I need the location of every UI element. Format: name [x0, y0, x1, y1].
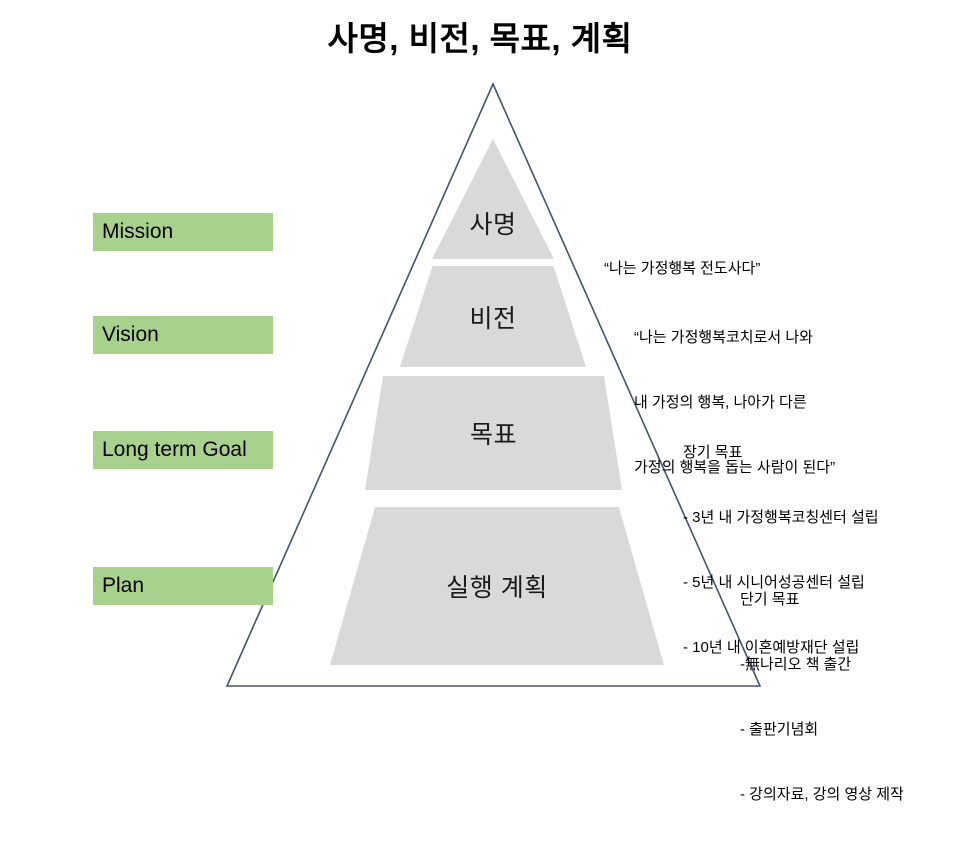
pyramid-tier-goal[interactable]: 목표 — [365, 376, 622, 490]
pyramid-tier-vision-label: 비전 — [469, 299, 516, 335]
annotation-vision-line-1: “나는 가정행복코치로서 나와 — [634, 327, 835, 349]
pyramid-tier-mission[interactable]: 사명 — [432, 139, 554, 259]
category-box-plan[interactable]: Plan — [93, 567, 273, 605]
pyramid-tier-goal-label: 목표 — [470, 415, 517, 451]
page-title: 사명, 비전, 목표, 계획 — [0, 12, 960, 60]
pyramid-tier-vision[interactable]: 비전 — [400, 266, 586, 367]
category-box-plan-label: Plan — [102, 574, 144, 598]
tier-fill-mission — [432, 139, 554, 259]
annotation-plan-item-2: - 출판기념회 — [740, 719, 904, 741]
annotation-mission-line-1: “나는 가정행복 전도사다” — [604, 258, 760, 280]
annotation-plan-heading: 단기 목표 — [740, 589, 904, 611]
category-box-mission-label: Mission — [102, 220, 173, 244]
slide-canvas: 사명, 비전, 목표, 계획 사명 비전 목표 실행 계획 Mission Vi… — [0, 0, 960, 720]
category-box-mission[interactable]: Mission — [93, 213, 273, 251]
category-box-long-term-goal-label: Long term Goal — [102, 438, 247, 462]
annotation-long-term-goal-item-1: - 3년 내 가정행복코칭센터 설립 — [683, 507, 879, 529]
pyramid-tier-plan-label: 실행 계획 — [446, 568, 547, 604]
annotation-plan-item-3: - 강의자료, 강의 영상 제작 — [740, 784, 904, 806]
category-box-vision-label: Vision — [102, 323, 159, 347]
pyramid-tier-plan[interactable]: 실행 계획 — [330, 507, 664, 665]
annotation-plan-item-1: -無나리오 책 출간 — [740, 654, 904, 676]
pyramid-tier-mission-label: 사명 — [469, 205, 516, 241]
annotation-long-term-goal-heading: 장기 목표 — [683, 442, 879, 464]
annotation-plan: 단기 목표 -無나리오 책 출간 - 출판기념회 - 강의자료, 강의 영상 제… — [740, 545, 904, 850]
category-box-vision[interactable]: Vision — [93, 316, 273, 354]
category-box-long-term-goal[interactable]: Long term Goal — [93, 431, 273, 469]
